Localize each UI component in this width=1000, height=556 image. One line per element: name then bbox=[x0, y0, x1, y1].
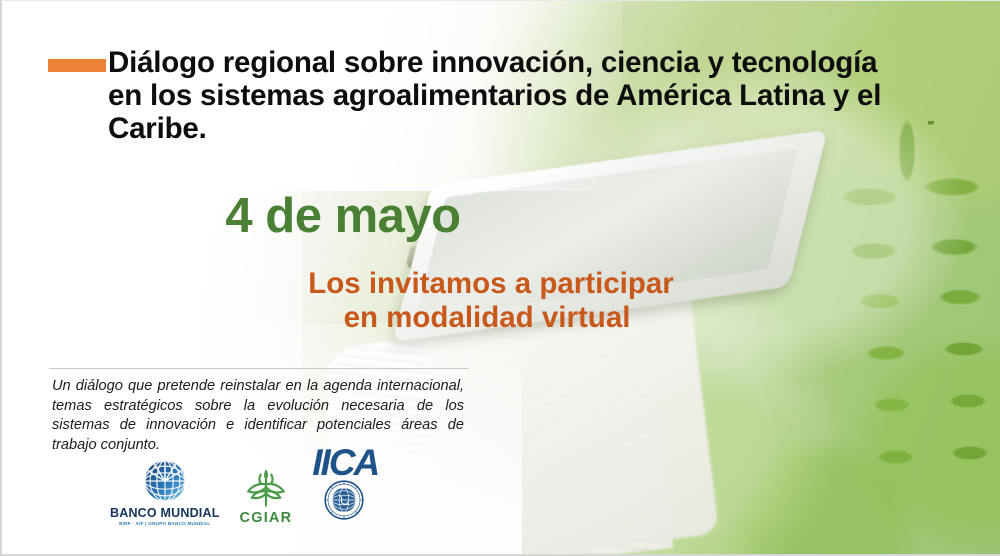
invitation-text: Los invitamos a participar en modalidad … bbox=[2, 267, 980, 335]
poster-content: Diálogo regional sobre innovación, cienc… bbox=[2, 1, 1000, 554]
cgiar-name: CGIAR bbox=[240, 510, 293, 526]
globe-icon bbox=[141, 457, 189, 505]
world-bank-name: BANCO MUNDIAL bbox=[110, 506, 220, 520]
logo-row: BANCO MUNDIAL BIRF · AIF | GRUPO BANCO M… bbox=[110, 456, 420, 526]
invitation-line-2: en modalidad virtual bbox=[0, 301, 980, 335]
iica-name: IICA bbox=[312, 446, 378, 480]
invitation-line-1: Los invitamos a participar bbox=[2, 267, 980, 301]
event-date: 4 de mayo bbox=[2, 189, 684, 243]
wheat-plant-icon bbox=[243, 465, 289, 509]
poster-title: Diálogo regional sobre innovación, cienc… bbox=[108, 46, 918, 145]
logo-cgiar: CGIAR bbox=[240, 465, 293, 526]
logo-world-bank: BANCO MUNDIAL BIRF · AIF | GRUPO BANCO M… bbox=[110, 457, 220, 526]
logo-iica: IICA bbox=[312, 446, 378, 526]
seal-globe-icon bbox=[324, 480, 364, 520]
horizontal-divider bbox=[49, 368, 469, 369]
poster-canvas: Diálogo regional sobre innovación, cienc… bbox=[0, 0, 1000, 556]
description-paragraph: Un diálogo que pretende reinstalar en la… bbox=[52, 377, 464, 455]
orange-accent-dash bbox=[48, 59, 106, 72]
world-bank-subtitle: BIRF · AIF | GRUPO BANCO MUNDIAL bbox=[119, 521, 210, 526]
